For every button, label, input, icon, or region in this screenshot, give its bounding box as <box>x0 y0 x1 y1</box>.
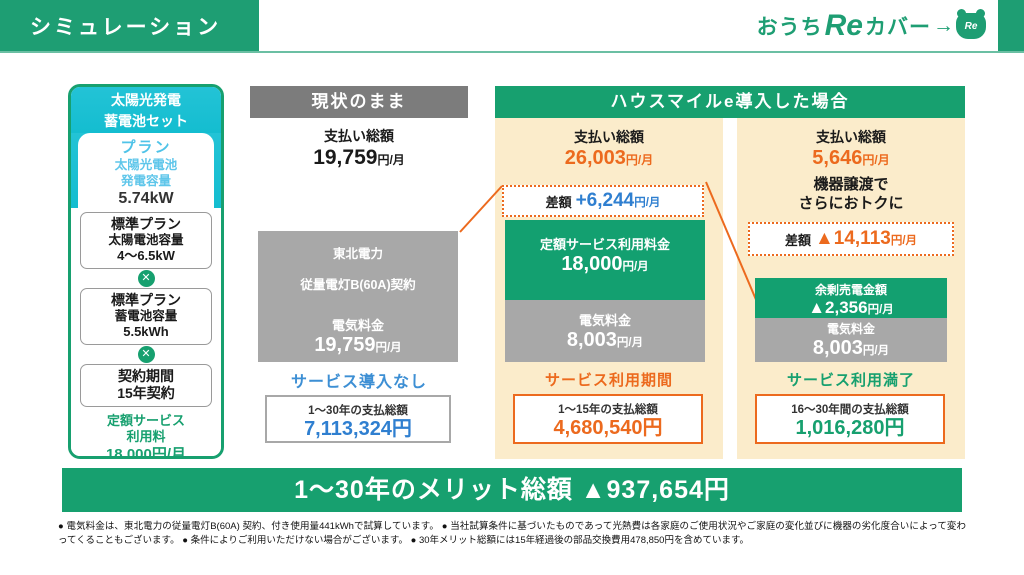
after-total-label: 支払い総額 <box>737 118 965 147</box>
column-current-header: 現状のまま <box>250 86 468 118</box>
plan-card-header: 太陽光発電 蓄電池セット <box>71 87 221 133</box>
after-summary-label: 16〜30年間の支払総額 <box>757 396 943 417</box>
plan-card-body: 標準プラン 太陽電池容量 4〜6.5kW ✕ 標準プラン 蓄電池容量 5.5kW… <box>71 208 221 459</box>
plan-spec-line3: 4〜6.5kW <box>83 248 209 264</box>
plan-spec-box-contract: 契約期間 15年契約 <box>80 364 212 407</box>
after-note: 機器譲渡で さらにおトクに <box>737 175 965 213</box>
after-summary-box: 16〜30年間の支払総額 1,016,280円 <box>755 394 945 444</box>
after-elec-segment: 電気料金 8,003円/月 <box>755 318 947 362</box>
plan-label: プラン <box>82 136 210 157</box>
after-note-line2: さらにおトクに <box>737 194 965 213</box>
multiply-icon: ✕ <box>138 346 155 363</box>
current-caption: サービス導入なし <box>250 368 468 392</box>
during-service-fee-unit: 円/月 <box>622 261 648 273</box>
after-diff-number: ▲14,113 <box>815 228 891 249</box>
during-caption: サービス利用期間 <box>495 369 723 390</box>
plan-spec-box-solar: 標準プラン 太陽電池容量 4〜6.5kW <box>80 212 212 269</box>
logo-text-re: Re <box>823 9 865 43</box>
plan-fee-value: 18,000円/月 <box>80 445 212 459</box>
logo-text-kaba: カバー <box>865 11 931 41</box>
column-current: 現状のまま 支払い総額 19,759円/月 <box>250 86 468 172</box>
after-sell-number: ▲2,356 <box>808 298 867 317</box>
after-elec-label: 電気料金 <box>755 320 947 337</box>
after-diff-value: ▲14,113円/月 <box>815 228 917 250</box>
during-elec-segment: 電気料金 8,003円/月 <box>505 300 705 362</box>
page-header: シミュレーション おうち Re カバー → Re <box>0 0 1024 52</box>
brand-logo: おうち Re カバー → Re <box>757 8 986 44</box>
plan-spec-title: 標準プラン <box>83 216 209 233</box>
after-caption: サービス利用満了 <box>737 369 965 390</box>
plan-spec-title: 契約期間 <box>83 368 209 385</box>
simulation-page: シミュレーション おうち Re カバー → Re 太陽光発電 蓄電池セット プラ… <box>0 0 1024 575</box>
plan-card-subhead: プラン 太陽光電池 発電容量 5.74kW <box>71 133 221 208</box>
after-total-value: 5,646円/月 <box>737 147 965 172</box>
logo-arrow-icon: → <box>931 14 956 38</box>
during-diff-number: +6,244 <box>576 190 635 211</box>
after-sell-label: 余剰売電金額 <box>755 281 947 298</box>
during-summary-label: 1〜15年の支払総額 <box>515 396 701 417</box>
page-title: シミュレーション <box>30 11 245 41</box>
during-summary-box: 1〜15年の支払総額 4,680,540円 <box>513 394 703 444</box>
plan-spec-line3: 5.5kWh <box>83 324 209 340</box>
logo-text-ouchi: おうち <box>757 11 823 41</box>
after-note-line1: 機器譲渡で <box>737 175 965 194</box>
after-elec-unit: 円/月 <box>863 345 889 357</box>
plan-spec-line2: 15年契約 <box>83 385 209 402</box>
during-diff-label: 差額 <box>546 192 572 211</box>
during-summary-value: 4,680,540円 <box>515 417 701 440</box>
after-elec-value: 8,003円/月 <box>755 337 947 363</box>
during-total-value: 26,003円/月 <box>495 147 723 172</box>
plan-header-line2: 蓄電池セット <box>71 111 221 132</box>
during-total-unit: 円/月 <box>626 153 653 167</box>
logo-mascot-icon: Re <box>956 13 986 39</box>
column-service-header: ハウスマイルe導入した場合 <box>495 86 965 118</box>
logo-mascot-text: Re <box>965 21 978 32</box>
after-diff-label: 差額 <box>785 230 811 249</box>
during-elec-unit: 円/月 <box>617 337 643 349</box>
during-diff-value: +6,244円/月 <box>576 190 661 212</box>
after-sell-segment: 余剰売電金額 ▲2,356円/月 <box>755 278 947 318</box>
plan-spec-title: 標準プラン <box>83 292 209 309</box>
during-diff-box: 差額 +6,244円/月 <box>502 185 704 217</box>
after-total-unit: 円/月 <box>862 153 889 167</box>
plan-spec-box-battery: 標準プラン 蓄電池容量 5.5kWh <box>80 288 212 345</box>
current-elec-label: 電気料金 <box>258 315 458 334</box>
plan-spec-line2: 蓄電池容量 <box>83 309 209 324</box>
during-service-fee-segment: 定額サービス利用料金 18,000円/月 <box>505 220 705 300</box>
current-provider-line1: 東北電力 <box>258 231 458 262</box>
plan-capacity-label-2: 発電容量 <box>82 174 210 189</box>
current-total-unit: 円/月 <box>377 153 404 167</box>
plan-capacity-label-1: 太陽光電池 <box>82 158 210 173</box>
plan-header-line1: 太陽光発電 <box>71 90 221 111</box>
after-sell-unit: 円/月 <box>868 304 894 316</box>
current-summary-value: 7,113,324円 <box>267 418 449 441</box>
current-elec-unit: 円/月 <box>375 342 401 354</box>
after-summary-value: 1,016,280円 <box>757 417 943 440</box>
during-elec-label: 電気料金 <box>505 310 705 329</box>
after-total-number: 5,646 <box>812 147 862 169</box>
footnote-text: ● 電気料金は、東北電力の従量電灯B(60A) 契約、付き使用量441kWhで試… <box>58 520 966 548</box>
current-cost-bar: 東北電力 従量電灯B(60A)契約 電気料金 19,759円/月 <box>258 231 458 362</box>
after-diff-unit: 円/月 <box>891 235 917 247</box>
plan-card: 太陽光発電 蓄電池セット プラン 太陽光電池 発電容量 5.74kW 標準プラン… <box>68 84 224 459</box>
after-elec-number: 8,003 <box>813 337 863 359</box>
after-diff-box: 差額 ▲14,113円/月 <box>748 222 954 256</box>
current-elec-number: 19,759 <box>314 334 375 356</box>
during-total-number: 26,003 <box>565 147 626 169</box>
during-service-fee-label: 定額サービス利用料金 <box>505 234 705 253</box>
during-elec-number: 8,003 <box>567 329 617 351</box>
plan-fee-block: 定額サービス 利用料 18,000円/月 <box>80 413 212 459</box>
during-diff-unit: 円/月 <box>634 197 660 209</box>
plan-fee-label-1: 定額サービス <box>80 413 212 429</box>
merit-total-bar: 1〜30年のメリット総額 ▲937,654円 <box>62 468 962 512</box>
during-service-fee-number: 18,000 <box>561 253 622 275</box>
current-summary-label: 1〜30年の支払総額 <box>267 397 449 418</box>
plan-white-panel: プラン 太陽光電池 発電容量 5.74kW <box>78 133 214 208</box>
after-sell-value: ▲2,356円/月 <box>755 298 947 320</box>
current-total-label: 支払い総額 <box>250 126 468 146</box>
plan-fee-label-2: 利用料 <box>80 429 212 445</box>
plan-spec-line2: 太陽電池容量 <box>83 233 209 248</box>
during-service-fee-value: 18,000円/月 <box>505 253 705 279</box>
current-total-value: 19,759円/月 <box>250 146 468 172</box>
current-provider-line2: 従量電灯B(60A)契約 <box>258 262 458 293</box>
current-summary-box: 1〜30年の支払総額 7,113,324円 <box>265 395 451 443</box>
during-elec-value: 8,003円/月 <box>505 329 705 355</box>
during-total-label: 支払い総額 <box>495 118 723 147</box>
header-divider <box>0 51 1024 53</box>
current-total-number: 19,759 <box>313 146 377 169</box>
multiply-icon: ✕ <box>138 270 155 287</box>
header-green-block-right <box>998 0 1024 52</box>
current-elec-value: 19,759円/月 <box>258 334 458 360</box>
plan-capacity-value: 5.74kW <box>82 190 210 208</box>
